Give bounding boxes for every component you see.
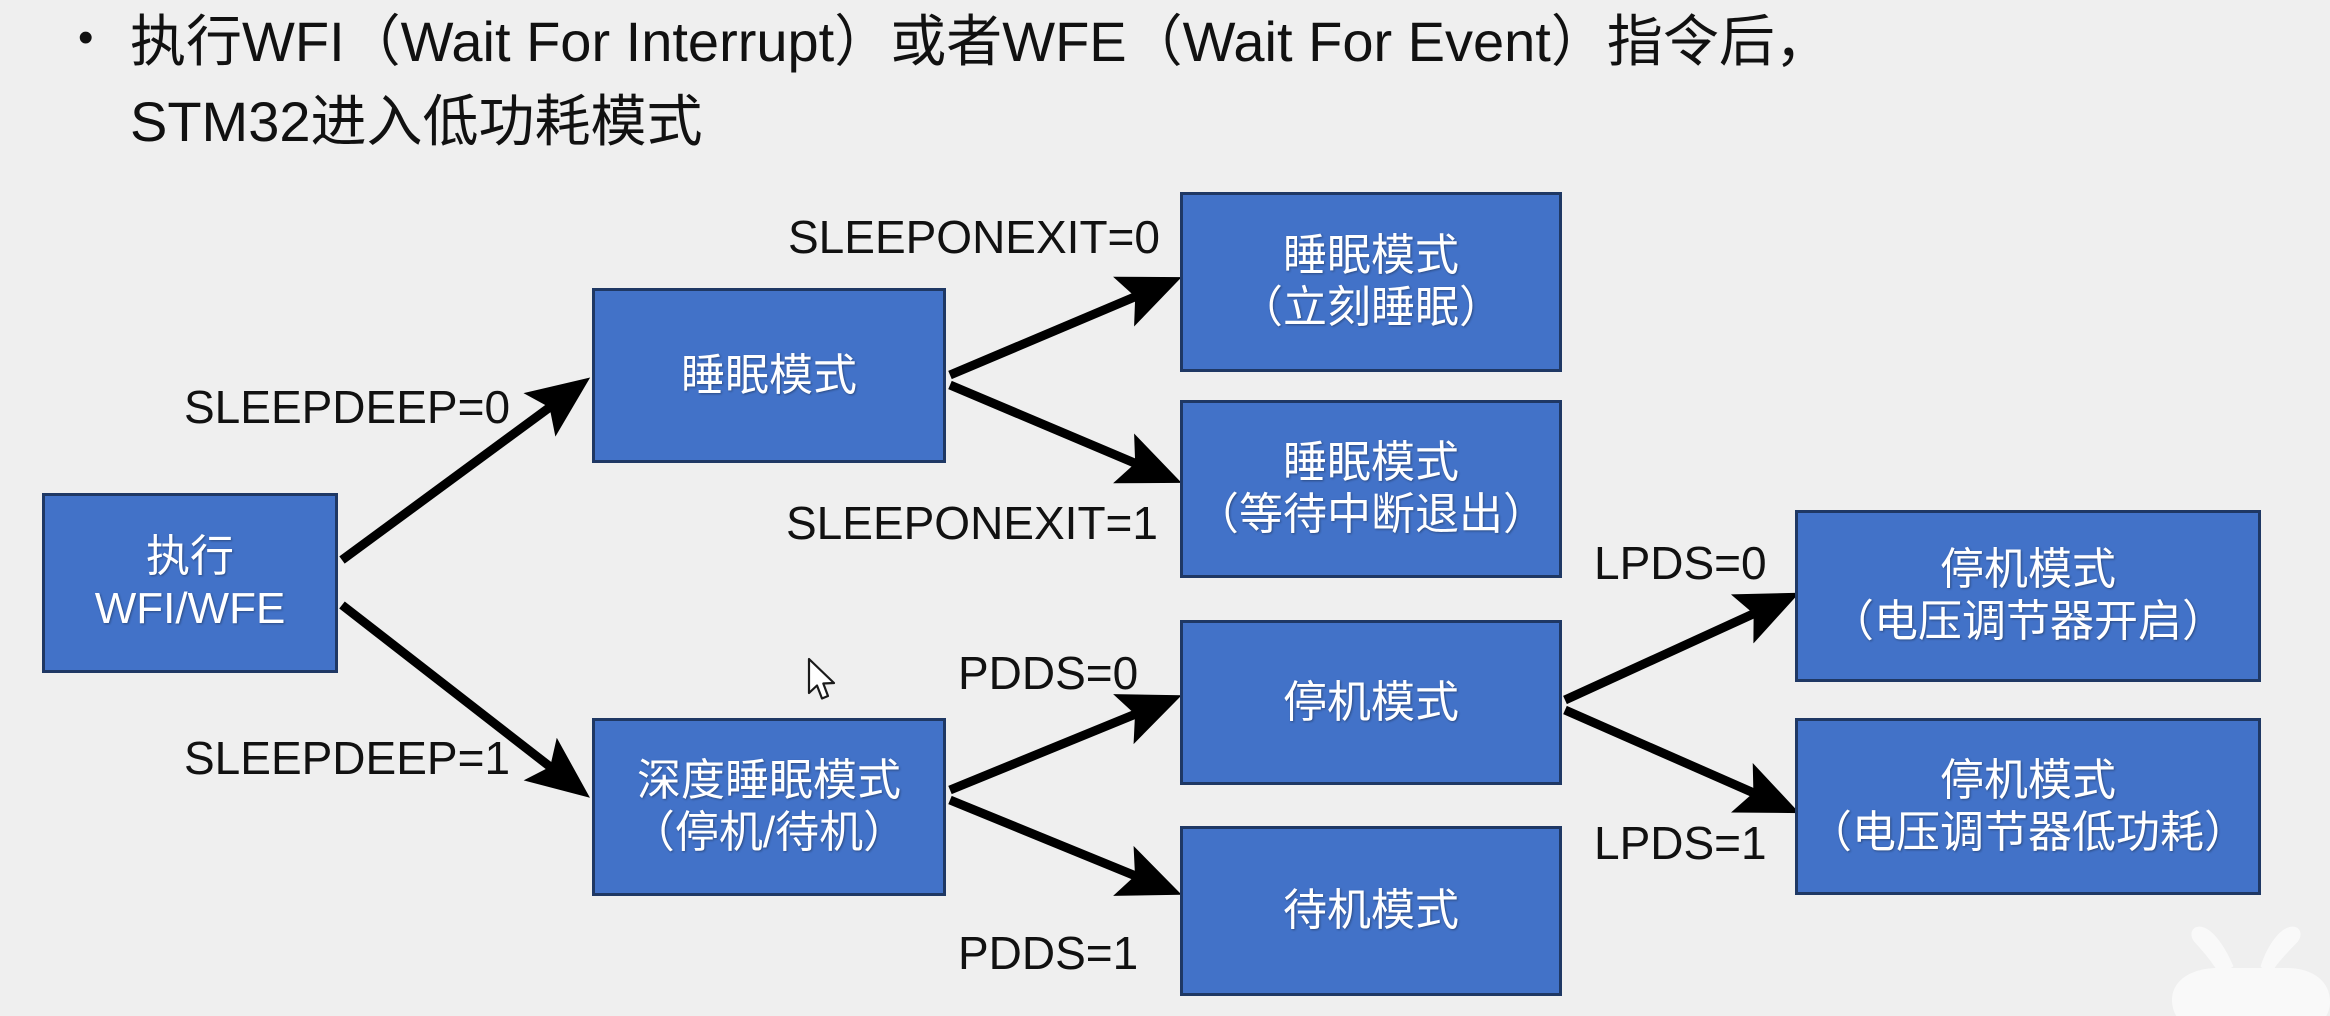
edge-stop-to-reglp xyxy=(1565,710,1788,808)
edge-label-sleepdeep-1: SLEEPDEEP=1 xyxy=(184,733,510,783)
edge-label-pdds-0: PDDS=0 xyxy=(958,648,1138,698)
rabbit-silhouette-watermark-icon xyxy=(2166,914,2330,1016)
edge-label-pdds-1: PDDS=1 xyxy=(958,928,1138,978)
edge-label-lpds-1: LPDS=1 xyxy=(1594,818,1767,868)
node-wfi[interactable]: 执行 WFI/WFE xyxy=(42,493,338,673)
node-sleep-immediate[interactable]: 睡眠模式 （立刻睡眠） xyxy=(1180,192,1562,372)
edge-deepsleep-to-stop xyxy=(950,700,1170,790)
power-mode-flowchart: 执行 WFI/WFE 睡眠模式 深度睡眠模式 （停机/待机） 睡眠模式 （立刻睡… xyxy=(0,0,2330,1016)
edge-stop-to-regon xyxy=(1565,598,1788,700)
edge-label-sleepdeep-0: SLEEPDEEP=0 xyxy=(184,382,510,432)
node-stop[interactable]: 停机模式 xyxy=(1180,620,1562,785)
edge-label-sleeponexit-1: SLEEPONEXIT=1 xyxy=(786,498,1158,548)
edge-label-lpds-0: LPDS=0 xyxy=(1594,538,1767,588)
node-deep-sleep[interactable]: 深度睡眠模式 （停机/待机） xyxy=(592,718,946,896)
edge-label-sleeponexit-0: SLEEPONEXIT=0 xyxy=(788,212,1160,262)
node-sleep[interactable]: 睡眠模式 xyxy=(592,288,946,463)
edge-sleep-to-sleeponexit xyxy=(950,385,1170,478)
node-stop-regulator-low-power[interactable]: 停机模式 （电压调节器低功耗） xyxy=(1795,718,2261,895)
edge-deepsleep-to-standby xyxy=(950,800,1170,890)
edge-sleep-to-sleepnow xyxy=(950,282,1170,375)
mouse-pointer-arrow-icon xyxy=(806,657,840,703)
node-stop-regulator-on[interactable]: 停机模式 （电压调节器开启） xyxy=(1795,510,2261,682)
node-sleep-on-exit[interactable]: 睡眠模式 （等待中断退出） xyxy=(1180,400,1562,578)
slide-canvas: • 执行WFI（Wait For Interrupt）或者WFE（Wait Fo… xyxy=(0,0,2330,1016)
node-standby[interactable]: 待机模式 xyxy=(1180,826,1562,996)
